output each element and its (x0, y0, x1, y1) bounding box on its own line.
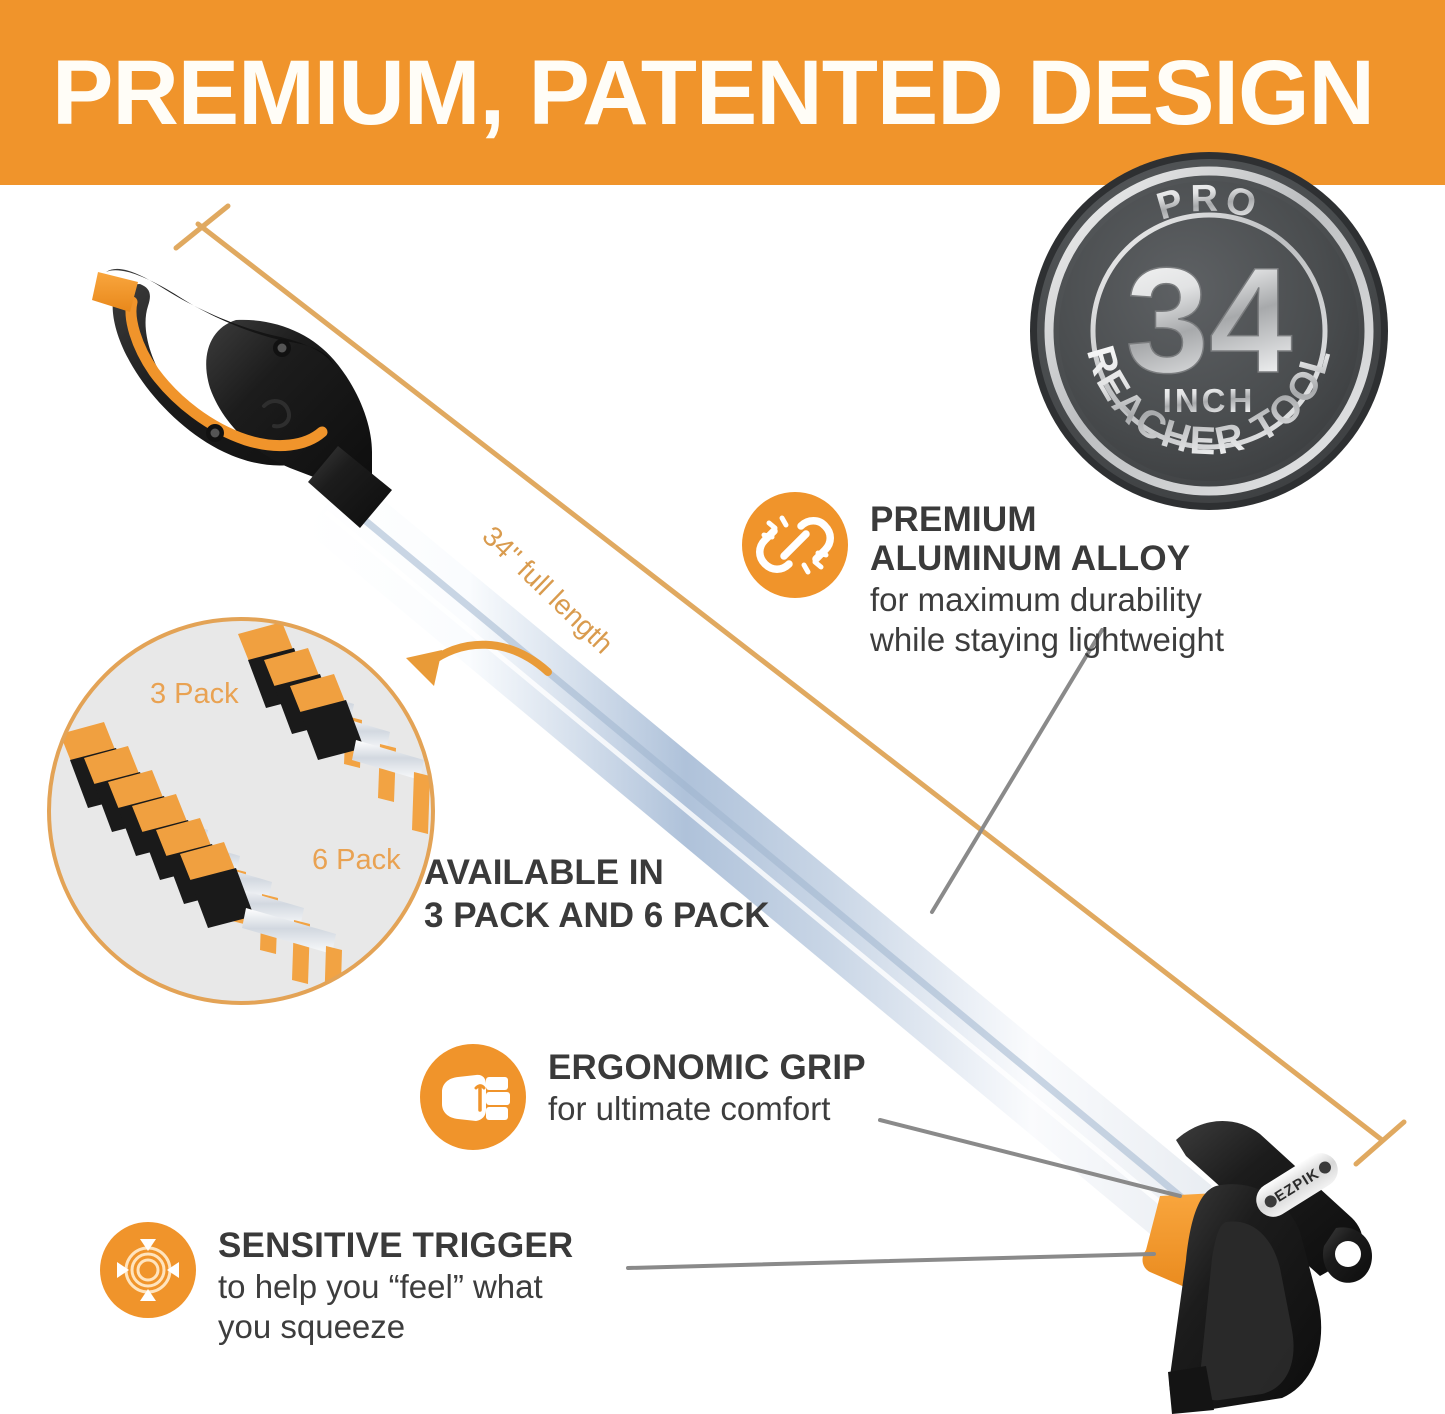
feature-sensitive-trigger: SENSITIVE TRIGGER to help you “feel” wha… (100, 1222, 573, 1346)
feature-aluminum-subtitle: for maximum durability while staying lig… (870, 580, 1224, 659)
available-packs-text: AVAILABLE IN 3 PACK AND 6 PACK (424, 852, 770, 937)
badge-unit: INCH (1163, 382, 1256, 419)
feature-grip-subtitle: for ultimate comfort (548, 1089, 866, 1129)
brand-plate: EZPIK (1252, 1148, 1343, 1222)
feature-aluminum-title: PREMIUM ALUMINUM ALLOY (870, 500, 1224, 578)
feature-trigger-title: SENSITIVE TRIGGER (218, 1226, 573, 1265)
dimension-label: 34" full length (476, 520, 620, 660)
feature-grip-title: ERGONOMIC GRIP (548, 1048, 866, 1087)
feature-aluminum-alloy: PREMIUM ALUMINUM ALLOY for maximum durab… (742, 492, 1224, 660)
infographic-canvas: PREMIUM, PATENTED DESIGN (0, 0, 1445, 1414)
leader-aluminum (932, 630, 1102, 912)
leader-grip (880, 1120, 1180, 1196)
page-title: PREMIUM, PATENTED DESIGN (0, 47, 1374, 139)
leader-lines (628, 630, 1180, 1268)
three-pack-label: 3 Pack (150, 678, 239, 711)
six-pack-label: 6 Pack (312, 844, 401, 877)
brand-name: EZPIK (1272, 1165, 1323, 1205)
feature-grip-text: ERGONOMIC GRIP for ultimate comfort (548, 1044, 866, 1129)
feature-trigger-text: SENSITIVE TRIGGER to help you “feel” wha… (218, 1222, 573, 1346)
badge-number: 34 (1126, 236, 1293, 404)
leader-trigger (628, 1254, 1154, 1268)
pack-inset-circle: 3 Pack 6 Pack (42, 612, 440, 1010)
chain-link-sparkle-icon (742, 492, 848, 598)
feature-aluminum-text: PREMIUM ALUMINUM ALLOY for maximum durab… (870, 492, 1224, 660)
claw-head (92, 269, 392, 528)
feature-trigger-subtitle: to help you “feel” what you squeeze (218, 1267, 573, 1346)
concentric-target-icon (100, 1222, 196, 1318)
feature-ergonomic-grip: ERGONOMIC GRIP for ultimate comfort (420, 1044, 866, 1150)
fist-icon (420, 1044, 526, 1150)
pro-reacher-badge: PRO 34 INCH REACHER TOOL (1028, 150, 1390, 512)
pistol-grip-handle (1143, 1121, 1372, 1414)
